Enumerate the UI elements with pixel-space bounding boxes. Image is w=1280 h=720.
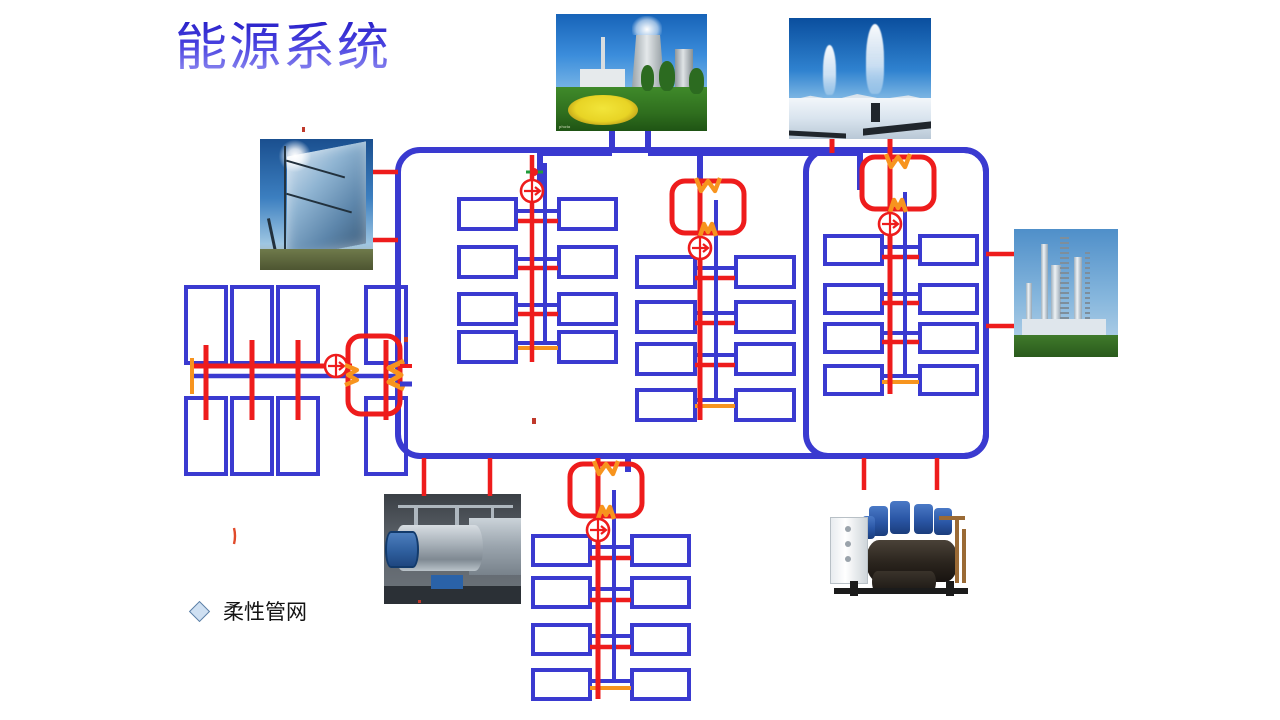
cluster-right: [825, 154, 977, 394]
bullet-row: 柔性管网: [192, 596, 307, 626]
cluster-central-left: [459, 155, 616, 362]
pump-circle-icon: [521, 180, 543, 202]
bullet-label: 柔性管网: [223, 596, 307, 626]
bottom-drop-lines: [424, 458, 937, 496]
heat-exchanger-icon: [570, 461, 642, 519]
heat-exchanger-icon: [672, 178, 744, 236]
pump-circle-icon: [325, 355, 347, 377]
refinery-feed-lines: [986, 254, 1014, 326]
heat-exchanger-icon: [862, 154, 934, 212]
cluster-bottom: [533, 461, 689, 699]
solar-feed-lines: [373, 172, 398, 240]
cluster-left-consumers: [186, 287, 412, 474]
diamond-bullet-icon: [189, 600, 210, 621]
pump-circle-icon: [587, 519, 609, 541]
pump-circle-icon: [879, 213, 901, 235]
slide-canvas: 能源系统 photo: [0, 0, 1280, 720]
cluster-central-right: [637, 178, 794, 420]
pump-circle-icon: [689, 237, 711, 259]
